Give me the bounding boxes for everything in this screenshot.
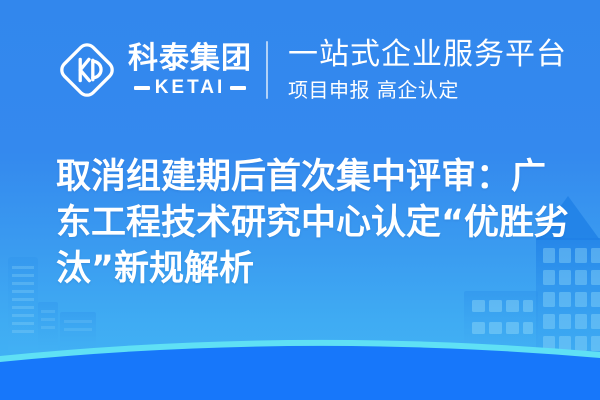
brand-name-cn: 科泰集团 bbox=[128, 42, 252, 76]
header-tagline: 一站式企业服务平台 项目申报 高企认定 bbox=[288, 37, 567, 103]
page-title: 取消组建期后首次集中评审：广东工程技术研究中心认定“优胜劣汰”新规解析 bbox=[56, 154, 576, 292]
bottom-curved-wave bbox=[0, 340, 600, 400]
logo-dash-left bbox=[134, 86, 150, 90]
logo-dash-right bbox=[230, 86, 246, 90]
brand-logo: 科泰集团 KETAI bbox=[56, 39, 252, 101]
tagline-main: 一站式企业服务平台 bbox=[288, 37, 567, 73]
brand-wordmark: 科泰集团 KETAI bbox=[128, 42, 252, 98]
right-mid-building bbox=[464, 291, 538, 353]
banner-header: 科泰集团 KETAI 一站式企业服务平台 项目申报 高企认定 bbox=[0, 0, 600, 140]
brand-name-en: KETAI bbox=[155, 78, 226, 98]
brand-name-en-row: KETAI bbox=[134, 78, 247, 98]
promo-banner: 科泰集团 KETAI 一站式企业服务平台 项目申报 高企认定 取消组建期后首次集… bbox=[0, 0, 600, 400]
tagline-sub: 项目申报 高企认定 bbox=[288, 77, 567, 103]
header-divider bbox=[266, 41, 268, 99]
ketai-diamond-kd-logo bbox=[56, 39, 118, 101]
